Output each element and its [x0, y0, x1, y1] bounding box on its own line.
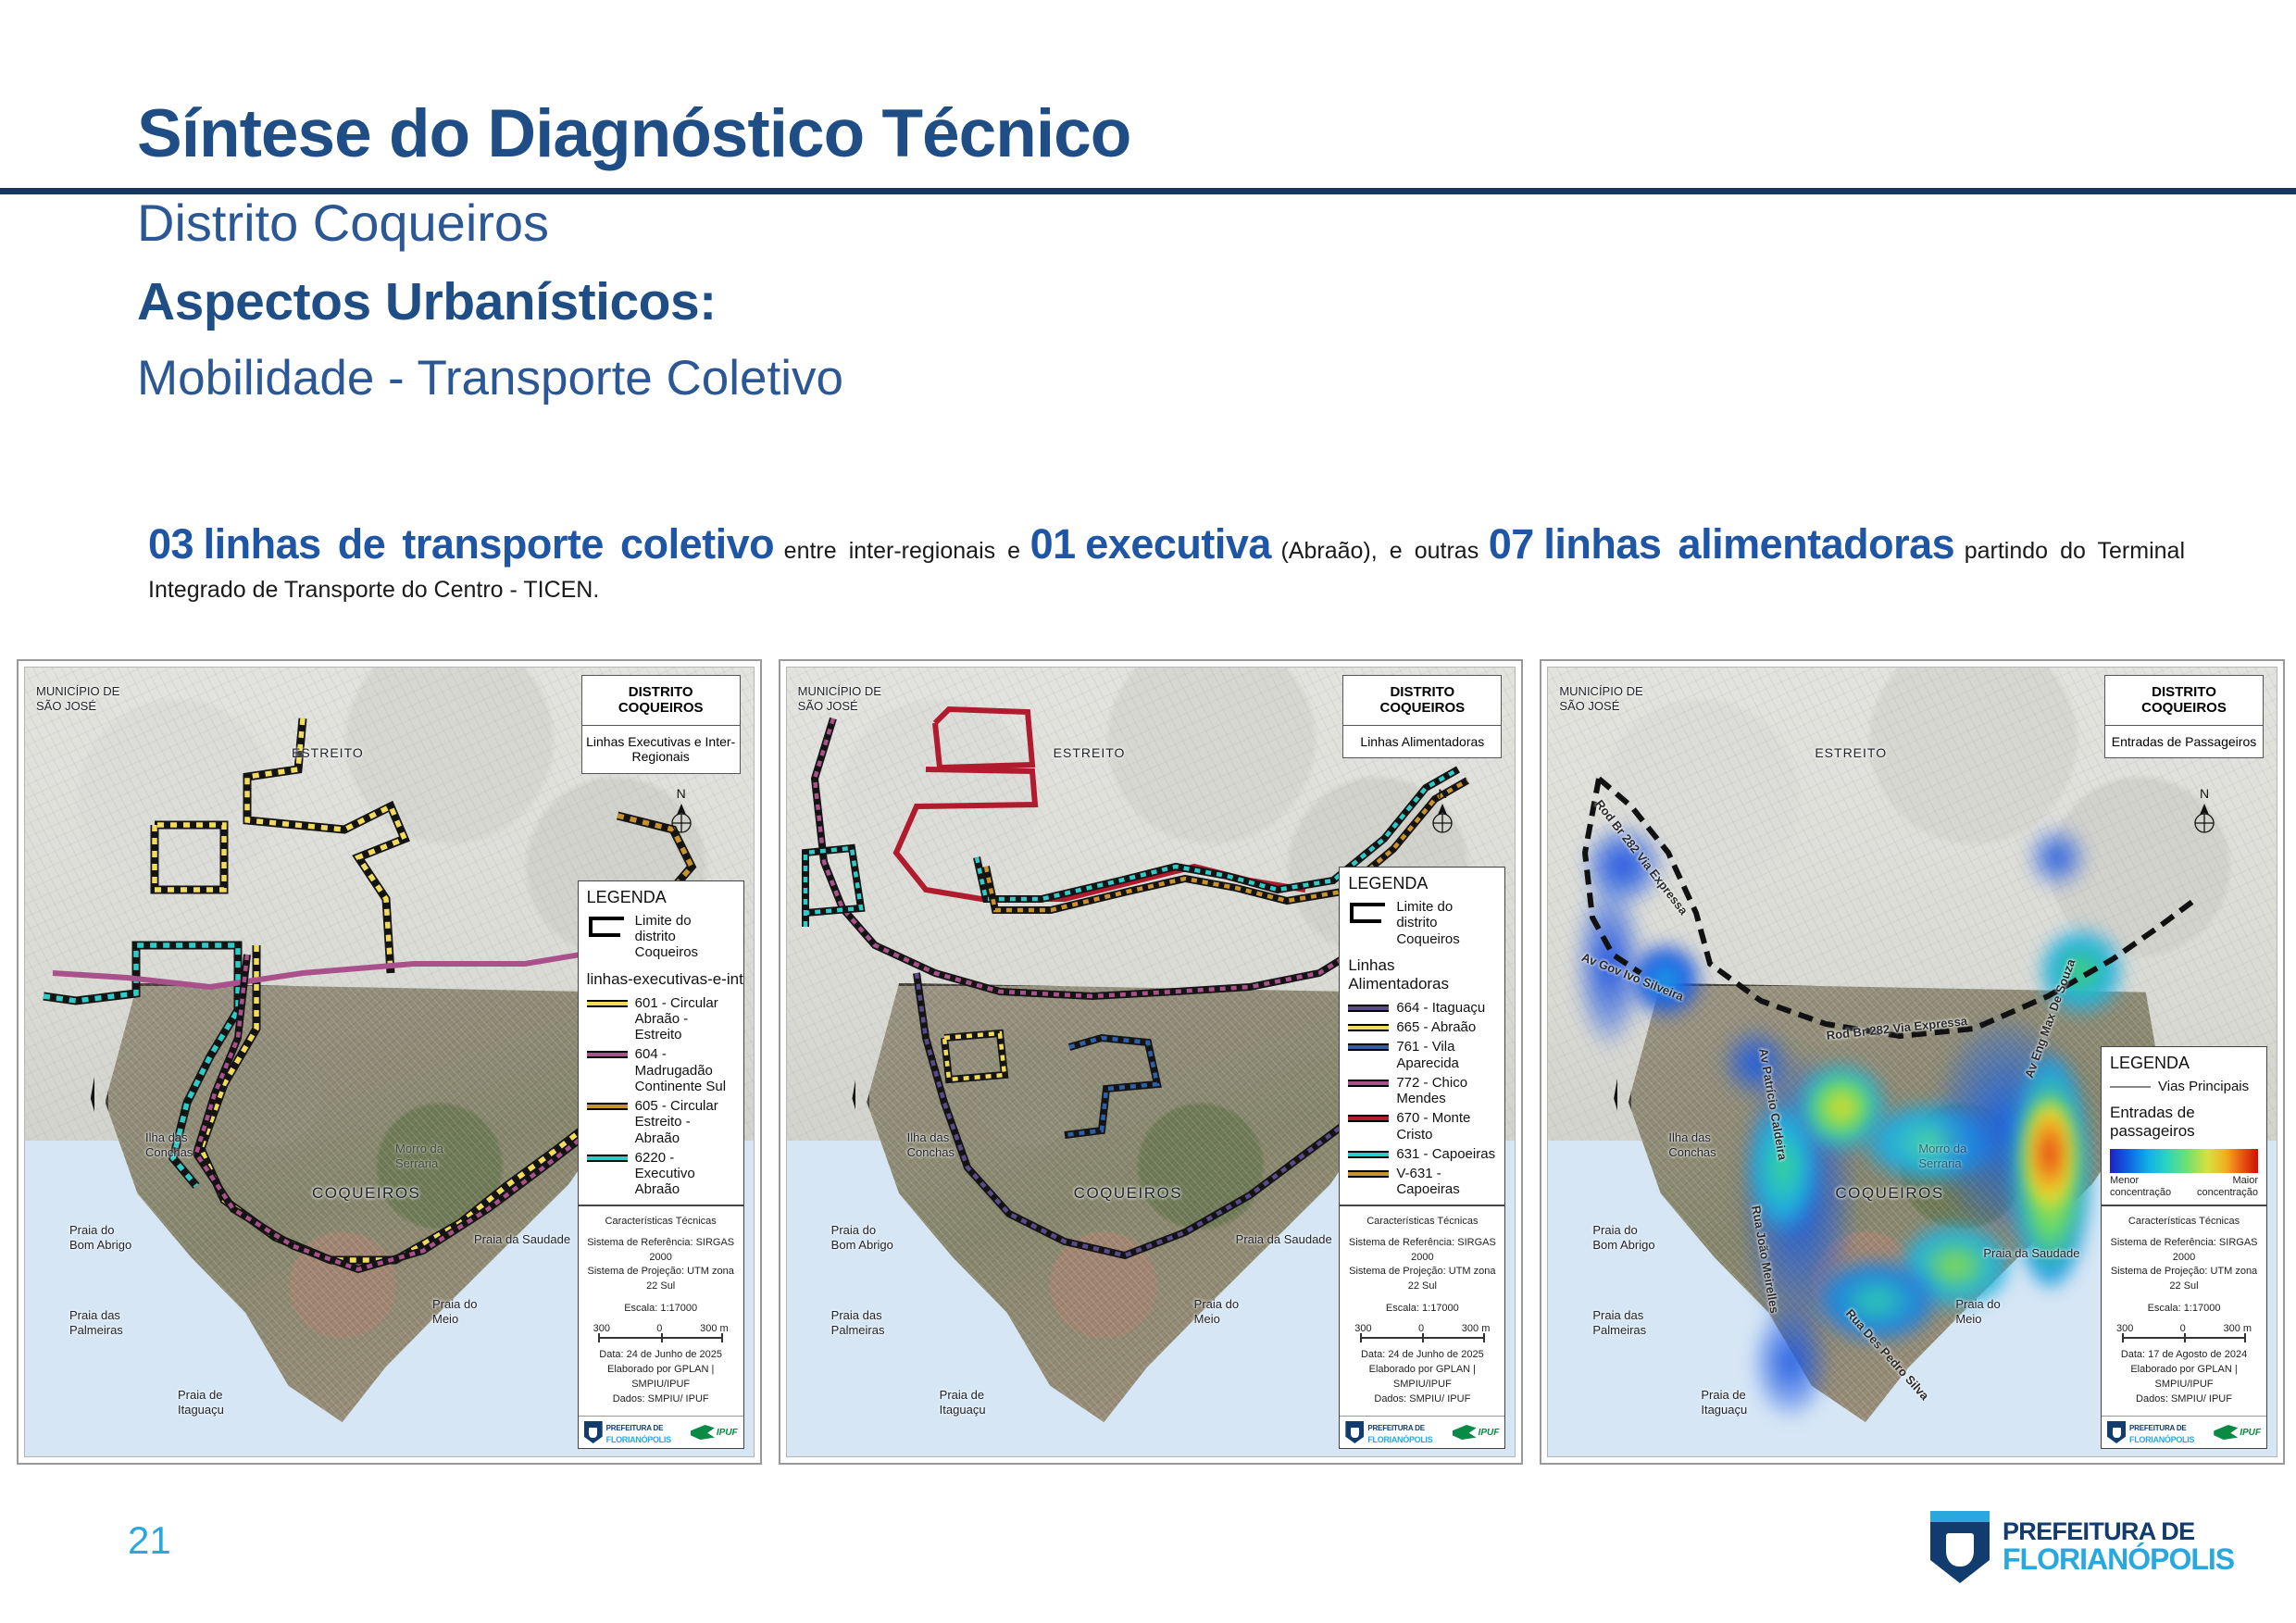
prefeitura-logo-line2-3: FLORIANÓPOLIS — [2129, 1435, 2194, 1444]
tech-author-2: Elaborado por GPLAN | SMPIU/IPUF — [1345, 1363, 1499, 1392]
map-label-praia-meio-2: Praia do Meio — [1194, 1297, 1239, 1326]
header-section-title: Aspectos Urbanísticos: — [137, 276, 717, 329]
map-titlebox-1: DISTRITO COQUEIROS Linhas Executivas e I… — [581, 675, 741, 774]
map-canvas-3[interactable]: MUNICÍPIO DE SÃO JOSÉ ESTREITO COQUEIROS… — [1547, 667, 2277, 1457]
tech-title-3: Características Técnicas — [2107, 1215, 2261, 1230]
map-panel-entradas-passageiros[interactable]: MUNICÍPIO DE SÃO JOSÉ ESTREITO COQUEIROS… — [1540, 659, 2285, 1465]
map-panel-alimentadoras[interactable]: MUNICÍPIO DE SÃO JOSÉ ESTREITO COQUEIROS… — [779, 659, 1524, 1465]
footer-shield-icon — [1930, 1511, 1990, 1583]
scale-label-right-2: 300 m — [1462, 1322, 1491, 1337]
legend-item-row: 664 - Itaguaçu — [1340, 998, 1504, 1017]
map-label-praia-bom-abrigo-1: Praia do Bom Abrigo — [69, 1223, 131, 1252]
tech-proj-3: Sistema de Projeção: UTM zona 22 Sul — [2107, 1265, 2261, 1294]
tech-scale-3: Escala: 1:17000 — [2107, 1302, 2261, 1317]
tech-date-1: Data: 24 de Junho de 2025 — [584, 1348, 738, 1363]
legend-item-row: 604 - Madrugadão Continente Sul — [579, 1044, 743, 1096]
prefeitura-logo-line1-2: PREFEITURA DE — [1367, 1424, 1425, 1432]
map-label-praia-bom-abrigo-2: Praia do Bom Abrigo — [831, 1223, 893, 1252]
legend-color-swatch — [1348, 1043, 1389, 1051]
legend-item-label: 6220 - Executivo Abraão — [635, 1150, 735, 1198]
map-label-praia-meio-1: Praia do Meio — [432, 1297, 477, 1326]
map-title-line1-2: DISTRITO — [1390, 684, 1454, 700]
tech-data-1: Dados: SMPIU/ IPUF — [584, 1392, 738, 1407]
heatmap-ramp-labels-3: Menor concentração Maior concentração — [2102, 1175, 2266, 1204]
prefeitura-shield-icon-3 — [2107, 1421, 2126, 1443]
ramp-label-min-3: Menor concentração — [2110, 1175, 2171, 1198]
map-label-coqueiros-2: COQUEIROS — [1074, 1184, 1182, 1203]
scale-label-left-2: 300 — [1354, 1322, 1371, 1337]
map-subtitle-2: Linhas Alimentadoras — [1343, 726, 1501, 758]
legend-district-row-1: Limite do distrito Coqueiros — [579, 911, 743, 963]
ipuf-logo-2: IPUF — [1453, 1425, 1500, 1440]
stat-text-2: executiva — [1085, 520, 1271, 568]
legend-tech-block-1: Características Técnicas Sistema de Refe… — [579, 1205, 743, 1416]
scale-label-left-1: 300 — [593, 1322, 610, 1337]
legend-item-label: 761 - Vila Aparecida — [1396, 1039, 1496, 1071]
legend-group-label-2: Linhas Alimentadoras — [1340, 949, 1504, 998]
legend-item-row: 6220 - Executivo Abraão — [579, 1148, 743, 1205]
legend-item-label: 664 - Itaguaçu — [1396, 1000, 1485, 1016]
tech-title-1: Características Técnicas — [584, 1215, 738, 1230]
legend-item-label: 665 - Abraão — [1396, 1019, 1476, 1035]
tech-ref-2: Sistema de Referência: SIRGAS 2000 — [1345, 1236, 1499, 1266]
legend-logos-1: PREFEITURA DE FLORIANÓPOLIS IPUF — [579, 1416, 743, 1448]
map-label-praia-meio-3: Praia do Meio — [1955, 1297, 2000, 1326]
legend-district-row-2: Limite do distrito Coqueiros — [1340, 897, 1504, 949]
compass-rose-2: N — [1429, 786, 1455, 839]
map-label-ilha-conchas-1: Ilha das Conchas — [145, 1130, 193, 1159]
map-label-praia-palmeiras-2: Praia das Palmeiras — [831, 1308, 885, 1337]
map-label-estreito-1: ESTREITO — [292, 745, 364, 760]
ipuf-label-2: IPUF — [1479, 1428, 1500, 1438]
map-label-municipio-2: MUNICÍPIO DE SÃO JOSÉ — [798, 684, 881, 715]
map-label-municipio-1: MUNICÍPIO DE SÃO JOSÉ — [36, 684, 119, 715]
summary-paragraph: 03 linhas de transporte coletivo entre i… — [148, 515, 2185, 606]
legend-group-label-1: linhas-executivas-e-interregionais — [579, 963, 743, 993]
tech-scale-2: Escala: 1:17000 — [1345, 1302, 1499, 1317]
scale-label-right-1: 300 m — [700, 1322, 729, 1337]
legend-color-swatch — [587, 1103, 628, 1110]
district-boundary-icon-2 — [1348, 901, 1389, 919]
map-legend-2: LEGENDA Limite do distrito Coqueiros Lin… — [1339, 867, 1505, 1449]
map-title-1: DISTRITO COQUEIROS — [582, 676, 740, 726]
scale-bar-3: 300 0 300 m — [2116, 1324, 2252, 1344]
map-label-ilha-conchas-2: Ilha das Conchas — [907, 1130, 955, 1159]
footer-logo-line2: FLORIANÓPOLIS — [2003, 1544, 2234, 1575]
compass-icon-1 — [668, 803, 694, 834]
header-topic: Mobilidade - Transporte Coletivo — [137, 354, 843, 403]
map-label-praia-saudade-1: Praia da Saudade — [474, 1232, 570, 1246]
legend-logos-2: PREFEITURA DE FLORIANÓPOLIS IPUF — [1340, 1416, 1504, 1448]
tech-proj-1: Sistema de Projeção: UTM zona 22 Sul — [584, 1265, 738, 1294]
header-subtitle-district: Distrito Coqueiros — [137, 197, 549, 249]
prefeitura-shield-icon-2 — [1345, 1421, 1364, 1443]
legend-item-row: 761 - Vila Aparecida — [1340, 1037, 1504, 1073]
legend-color-swatch — [587, 1155, 628, 1162]
map-label-praia-itaguacu-1: Praia de Itaguaçu — [178, 1388, 224, 1417]
map-label-praia-saudade-2: Praia da Saudade — [1236, 1232, 1332, 1246]
prefeitura-logo-3: PREFEITURA DE FLORIANÓPOLIS — [2107, 1420, 2194, 1444]
legend-item-label: 604 - Madrugadão Continente Sul — [635, 1046, 735, 1094]
legend-item-label: 605 - Circular Estreito - Abraão — [635, 1098, 735, 1146]
map-title-2: DISTRITO COQUEIROS — [1343, 676, 1501, 726]
scale-bar-2: 300 0 300 m — [1354, 1324, 1490, 1344]
map-label-estreito-2: ESTREITO — [1054, 745, 1126, 760]
page-header: Síntese do Diagnóstico Técnico Distrito … — [0, 0, 2296, 435]
legend-color-swatch — [1348, 1170, 1389, 1178]
map-label-praia-saudade-3: Praia da Saudade — [1983, 1246, 2079, 1260]
prefeitura-logo-line1-1: PREFEITURA DE — [606, 1424, 664, 1432]
map-legend-3: LEGENDA Vias Principais Entradas de pass… — [2101, 1046, 2267, 1449]
legend-vias-row-3: Vias Principais — [2102, 1077, 2266, 1096]
map-label-praia-bom-abrigo-3: Praia do Bom Abrigo — [1592, 1223, 1654, 1252]
stat-number-2: 01 — [1030, 520, 1076, 568]
ipuf-label-3: IPUF — [2240, 1428, 2261, 1438]
prefeitura-logo-1: PREFEITURA DE FLORIANÓPOLIS — [584, 1420, 671, 1444]
ipuf-label-1: IPUF — [717, 1428, 738, 1438]
legend-title-1: LEGENDA — [579, 881, 743, 911]
prefeitura-logo-line2-2: FLORIANÓPOLIS — [1367, 1435, 1432, 1444]
ipuf-logo-3: IPUF — [2214, 1425, 2261, 1440]
map-title-line2-1: COQUEIROS — [618, 700, 704, 716]
map-label-coqueiros-3: COQUEIROS — [1835, 1184, 1943, 1203]
legend-color-swatch — [1348, 1151, 1389, 1158]
legend-item-row: 631 - Capoeiras — [1340, 1144, 1504, 1164]
compass-icon-3 — [2191, 803, 2217, 834]
map-label-morro-serraria-3: Morro da Serraria — [1918, 1142, 1966, 1170]
compass-rose-3: N — [2191, 786, 2217, 839]
map-title-line1-3: DISTRITO — [2152, 684, 2216, 700]
legend-item-label: 670 - Monte Cristo — [1396, 1110, 1496, 1142]
map-panel-row: MUNICÍPIO DE SÃO JOSÉ ESTREITO COQUEIROS… — [17, 659, 2285, 1465]
prefeitura-logo-2: PREFEITURA DE FLORIANÓPOLIS — [1345, 1420, 1432, 1444]
tech-proj-2: Sistema de Projeção: UTM zona 22 Sul — [1345, 1265, 1499, 1294]
tech-author-3: Elaborado por GPLAN | SMPIU/IPUF — [2107, 1363, 2261, 1392]
legend-district-label-2: Limite do distrito Coqueiros — [1396, 899, 1496, 947]
ramp-label-max-3: Maior concentração — [2197, 1175, 2258, 1198]
district-boundary-icon-1 — [587, 915, 628, 933]
compass-rose-1: N — [668, 786, 694, 839]
legend-tech-block-3: Características Técnicas Sistema de Refe… — [2102, 1205, 2266, 1416]
map-label-coqueiros-1: COQUEIROS — [312, 1184, 420, 1203]
map-label-praia-palmeiras-3: Praia das Palmeiras — [1592, 1308, 1646, 1337]
ipuf-swoosh-icon-2 — [1453, 1425, 1477, 1440]
legend-district-label-1: Limite do distrito Coqueiros — [635, 913, 735, 961]
legend-title-3: LEGENDA — [2102, 1047, 2266, 1077]
scale-label-left-3: 300 — [2116, 1322, 2133, 1337]
map-titlebox-3: DISTRITO COQUEIROS Entradas de Passageir… — [2104, 675, 2264, 758]
legend-logos-3: PREFEITURA DE FLORIANÓPOLIS IPUF — [2102, 1416, 2266, 1448]
map-title-line1-1: DISTRITO — [629, 684, 693, 700]
prefeitura-shield-icon-1 — [584, 1421, 603, 1443]
map-titlebox-2: DISTRITO COQUEIROS Linhas Alimentadoras — [1342, 675, 1502, 758]
compass-north-label-3: N — [2191, 786, 2217, 801]
map-label-morro-serraria-1: Morro da Serraria — [395, 1142, 443, 1170]
tech-ref-3: Sistema de Referência: SIRGAS 2000 — [2107, 1236, 2261, 1266]
map-subtitle-1: Linhas Executivas e Inter-Regionais — [582, 726, 740, 774]
legend-title-2: LEGENDA — [1340, 868, 1504, 897]
legend-item-row: 665 - Abraão — [1340, 1017, 1504, 1037]
legend-color-swatch — [587, 1051, 628, 1058]
prefeitura-logo-line1-3: PREFEITURA DE — [2129, 1424, 2187, 1432]
legend-item-row: 601 - Circular Abraão - Estreito — [579, 993, 743, 1045]
vias-principais-icon-3 — [2110, 1086, 2151, 1088]
stat-text-3: linhas alimentadoras — [1543, 520, 1954, 568]
legend-item-row: 670 - Monte Cristo — [1340, 1108, 1504, 1144]
map-title-line2-3: COQUEIROS — [2141, 700, 2227, 716]
tech-data-3: Dados: SMPIU/ IPUF — [2107, 1392, 2261, 1407]
paragraph-mid-2: (Abraão), e outras — [1280, 538, 1479, 564]
compass-north-label-2: N — [1429, 786, 1455, 801]
map-label-estreito-3: ESTREITO — [1815, 745, 1887, 760]
tech-ref-1: Sistema de Referência: SIRGAS 2000 — [584, 1236, 738, 1266]
footer-prefeitura-logo: PREFEITURA DE FLORIANÓPOLIS — [1930, 1511, 2234, 1583]
scale-bar-1: 300 0 300 m — [593, 1324, 729, 1344]
page-title: Síntese do Diagnóstico Técnico — [137, 100, 1130, 168]
legend-item-row: 772 - Chico Mendes — [1340, 1073, 1504, 1109]
tech-data-2: Dados: SMPIU/ IPUF — [1345, 1392, 1499, 1407]
footer-logo-line1: PREFEITURA DE — [2003, 1519, 2234, 1545]
legend-color-swatch — [1348, 1005, 1389, 1012]
stat-number-3: 07 — [1489, 520, 1534, 568]
map-legend-1: LEGENDA Limite do distrito Coqueiros lin… — [578, 880, 744, 1449]
map-canvas-1[interactable]: MUNICÍPIO DE SÃO JOSÉ ESTREITO COQUEIROS… — [24, 667, 755, 1457]
legend-color-swatch — [1348, 1115, 1389, 1122]
map-label-ilha-conchas-3: Ilha das Conchas — [1668, 1130, 1716, 1159]
map-label-praia-palmeiras-1: Praia das Palmeiras — [69, 1308, 123, 1337]
page-number: 21 — [128, 1518, 171, 1563]
map-panel-executivas[interactable]: MUNICÍPIO DE SÃO JOSÉ ESTREITO COQUEIROS… — [17, 659, 762, 1465]
map-label-praia-itaguacu-3: Praia de Itaguaçu — [1701, 1388, 1747, 1417]
paragraph-mid-1: entre inter-regionais e — [784, 538, 1020, 564]
map-subtitle-3: Entradas de Passageiros — [2105, 726, 2263, 758]
stat-text-1: linhas de transporte coletivo — [204, 520, 774, 568]
map-title-3: DISTRITO COQUEIROS — [2105, 676, 2263, 726]
tech-scale-1: Escala: 1:17000 — [584, 1302, 738, 1317]
legend-item-label: V-631 - Capoeiras — [1396, 1166, 1496, 1198]
legend-item-row: V-631 - Capoeiras — [1340, 1164, 1504, 1205]
ipuf-swoosh-icon-1 — [691, 1425, 715, 1440]
legend-color-swatch — [587, 1000, 628, 1007]
map-label-municipio-3: MUNICÍPIO DE SÃO JOSÉ — [1559, 684, 1642, 715]
map-canvas-2[interactable]: MUNICÍPIO DE SÃO JOSÉ ESTREITO COQUEIROS… — [786, 667, 1516, 1457]
ipuf-swoosh-icon-3 — [2214, 1425, 2238, 1440]
tech-title-2: Características Técnicas — [1345, 1215, 1499, 1230]
legend-item-label: 601 - Circular Abraão - Estreito — [635, 995, 735, 1043]
legend-item-label: 772 - Chico Mendes — [1396, 1075, 1496, 1107]
legend-item-label: 631 - Capoeiras — [1396, 1146, 1495, 1162]
scale-label-right-3: 300 m — [2223, 1322, 2252, 1337]
tech-date-3: Data: 17 de Agosto de 2024 — [2107, 1348, 2261, 1363]
compass-icon-2 — [1429, 803, 1455, 834]
compass-north-label-1: N — [668, 786, 694, 801]
heatmap-gradient-ramp-3 — [2110, 1149, 2258, 1173]
tech-date-2: Data: 24 de Junho de 2025 — [1345, 1348, 1499, 1363]
legend-color-swatch — [1348, 1080, 1389, 1087]
ipuf-logo-1: IPUF — [691, 1425, 738, 1440]
legend-vias-label-3: Vias Principais — [2158, 1079, 2249, 1094]
map-title-line2-2: COQUEIROS — [1380, 700, 1466, 716]
legend-color-swatch — [1348, 1024, 1389, 1031]
map-label-praia-itaguacu-2: Praia de Itaguaçu — [940, 1388, 986, 1417]
legend-tech-block-2: Características Técnicas Sistema de Refe… — [1340, 1205, 1504, 1416]
legend-group-label-3: Entradas de passageiros — [2102, 1096, 2266, 1145]
legend-item-row: 605 - Circular Estreito - Abraão — [579, 1096, 743, 1148]
prefeitura-logo-line2-1: FLORIANÓPOLIS — [606, 1435, 671, 1444]
tech-author-1: Elaborado por GPLAN | SMPIU/IPUF — [584, 1363, 738, 1392]
stat-number-1: 03 — [148, 520, 193, 568]
